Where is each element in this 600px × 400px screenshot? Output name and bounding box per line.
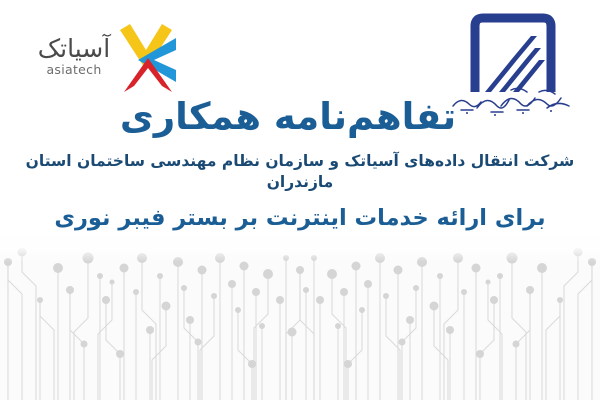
poster-canvas: آسیاتک asiatech (0, 0, 600, 400)
asiatech-logo: آسیاتک asiatech (28, 22, 188, 100)
building-engineering-emblem-icon (465, 12, 561, 92)
page-tagline: برای ارائه خدمات اینترنت بر بستر فیبر نو… (0, 205, 600, 232)
asiatech-name-fa: آسیاتک (28, 36, 120, 61)
page-subtitle: شرکت انتقال داده‌های آسیاتک و سازمان نظا… (0, 151, 600, 191)
headline-block: تفاهم‌نامه همکاری شرکت انتقال داده‌های آ… (0, 96, 600, 232)
asiatech-wordmark: آسیاتک asiatech (28, 36, 120, 77)
asiatech-name-en: asiatech (28, 64, 120, 77)
asiatech-x-mark-icon (116, 22, 182, 96)
page-title: تفاهم‌نامه همکاری (0, 96, 600, 137)
